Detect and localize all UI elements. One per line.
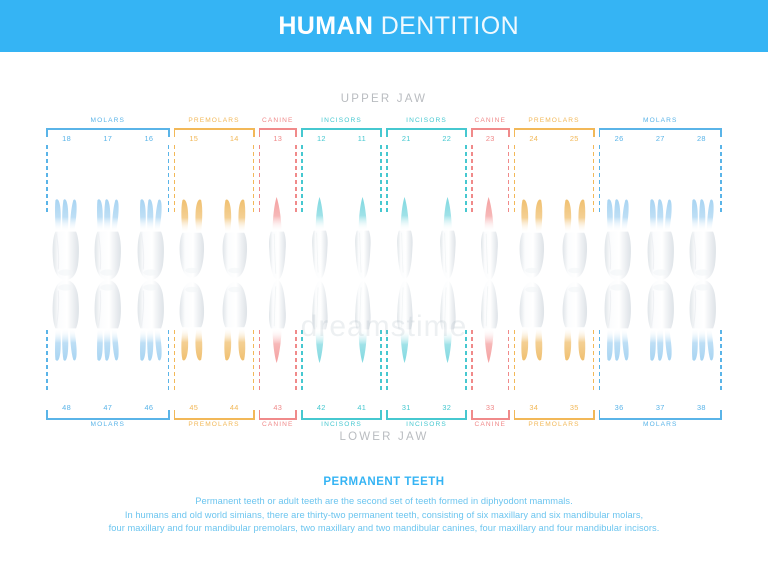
- tooth-molar[interactable]: [639, 196, 682, 282]
- tooth-number: 11: [358, 134, 366, 143]
- tooth-molar[interactable]: [597, 278, 640, 364]
- tooth-group-bracket-canine-lower: CANINE43: [259, 398, 298, 420]
- bracket-bar: [386, 418, 467, 420]
- tooth-incisor[interactable]: [342, 196, 385, 282]
- tooth-number-row: 484746: [46, 403, 170, 412]
- tooth-molar[interactable]: [682, 278, 725, 364]
- tooth-group-label: MOLARS: [46, 421, 170, 428]
- tooth-number: 41: [357, 403, 366, 412]
- tooth-number-row: 363738: [599, 403, 723, 412]
- tooth-molar[interactable]: [44, 196, 87, 282]
- tooth-number-row: 2122: [386, 134, 467, 143]
- tooth-incisor[interactable]: [384, 278, 427, 364]
- tooth-group-label: CANINE: [259, 421, 298, 428]
- tooth-number: 28: [697, 134, 706, 143]
- bracket-bar: [471, 418, 510, 420]
- tooth-number: 47: [103, 403, 112, 412]
- tooth-premolar[interactable]: [214, 278, 257, 364]
- tooth-group-label: INCISORS: [386, 117, 467, 124]
- tooth-molar[interactable]: [129, 278, 172, 364]
- tooth-number-row: 2425: [514, 134, 595, 143]
- tooth-number: 37: [656, 403, 665, 412]
- tooth-number-row: 4241: [301, 403, 382, 412]
- tooth-group-label: INCISORS: [301, 117, 382, 124]
- bracket-bar: [599, 128, 723, 130]
- tooth-group-label: PREMOLARS: [514, 421, 595, 428]
- tooth-canine[interactable]: [469, 196, 512, 282]
- tooth-number: 14: [230, 134, 239, 143]
- tooth-number-row: 1514: [174, 134, 255, 143]
- tooth-group-label: MOLARS: [599, 117, 723, 124]
- tooth-incisor[interactable]: [342, 278, 385, 364]
- tooth-number: 22: [442, 134, 451, 143]
- tooth-group-label: INCISORS: [301, 421, 382, 428]
- tooth-molar[interactable]: [87, 278, 130, 364]
- tooth-incisor[interactable]: [384, 196, 427, 282]
- tooth-number: 31: [402, 403, 411, 412]
- tooth-group-bracket-molars-lower: MOLARS363738: [599, 398, 723, 420]
- tooth-molar[interactable]: [682, 196, 725, 282]
- tooth-premolar[interactable]: [512, 196, 555, 282]
- bracket-bar: [259, 418, 298, 420]
- tooth-group-bracket-canine-upper: CANINE13: [259, 128, 298, 150]
- tooth-incisor[interactable]: [427, 196, 470, 282]
- upper-teeth-row: [44, 196, 724, 282]
- tooth-number: 33: [486, 403, 495, 412]
- tooth-number: 46: [144, 403, 153, 412]
- footer-line-3: four maxillary and four mandibular premo…: [0, 522, 768, 536]
- tooth-number-row: 4544: [174, 403, 255, 412]
- tooth-number: 18: [62, 134, 71, 143]
- tooth-group-bracket-incisors-upper: INCISORS2122: [386, 128, 467, 150]
- tooth-group-bracket-molars-upper: MOLARS181716: [46, 128, 170, 150]
- tooth-premolar[interactable]: [554, 196, 597, 282]
- bracket-bar: [301, 418, 382, 420]
- tooth-number-row: 181716: [46, 134, 170, 143]
- tooth-number-row: 3132: [386, 403, 467, 412]
- tooth-number: 43: [273, 403, 282, 412]
- tooth-number: 34: [529, 403, 538, 412]
- tooth-number: 35: [570, 403, 579, 412]
- tooth-group-label: CANINE: [259, 117, 298, 124]
- tooth-number: 13: [273, 134, 282, 143]
- tooth-group-bracket-incisors-upper: INCISORS1211: [301, 128, 382, 150]
- tooth-group-label: PREMOLARS: [174, 117, 255, 124]
- tooth-molar[interactable]: [44, 278, 87, 364]
- bracket-bar: [514, 128, 595, 130]
- tooth-premolar[interactable]: [512, 278, 555, 364]
- tooth-number: 48: [62, 403, 71, 412]
- tooth-group-label: MOLARS: [46, 117, 170, 124]
- lower-teeth-row: [44, 278, 724, 364]
- footer-description: Permanent teeth or adult teeth are the s…: [0, 495, 768, 536]
- tooth-number-row: 33: [471, 403, 510, 412]
- tooth-number: 16: [144, 134, 153, 143]
- tooth-canine[interactable]: [257, 278, 300, 364]
- tooth-number: 32: [442, 403, 451, 412]
- tooth-number-row: 3435: [514, 403, 595, 412]
- tooth-premolar[interactable]: [554, 278, 597, 364]
- tooth-molar[interactable]: [129, 196, 172, 282]
- tooth-group-label: CANINE: [471, 421, 510, 428]
- tooth-group-bracket-canine-lower: CANINE33: [471, 398, 510, 420]
- tooth-incisor[interactable]: [299, 278, 342, 364]
- bracket-bar: [259, 128, 298, 130]
- tooth-canine[interactable]: [469, 278, 512, 364]
- tooth-group-label: PREMOLARS: [174, 421, 255, 428]
- tooth-number-row: 1211: [301, 134, 382, 143]
- tooth-number: 23: [486, 134, 495, 143]
- bracket-bar: [386, 128, 467, 130]
- tooth-number: 42: [317, 403, 326, 412]
- tooth-number: 45: [189, 403, 198, 412]
- bracket-bar: [46, 128, 170, 130]
- bracket-bar: [46, 418, 170, 420]
- tooth-group-bracket-molars-upper: MOLARS262728: [599, 128, 723, 150]
- tooth-number: 36: [615, 403, 624, 412]
- tooth-group-label: INCISORS: [386, 421, 467, 428]
- bracket-bar: [174, 128, 255, 130]
- tooth-group-label: PREMOLARS: [514, 117, 595, 124]
- tooth-group-bracket-premolars-upper: PREMOLARS1514: [174, 128, 255, 150]
- tooth-group-bracket-premolars-lower: PREMOLARS4544: [174, 398, 255, 420]
- footer-line-2: In humans and old world simians, there a…: [0, 509, 768, 523]
- tooth-number: 27: [656, 134, 665, 143]
- tooth-incisor[interactable]: [427, 278, 470, 364]
- bracket-bar: [514, 418, 595, 420]
- tooth-number: 17: [103, 134, 112, 143]
- tooth-number-row: 23: [471, 134, 510, 143]
- bracket-bar: [301, 128, 382, 130]
- tooth-molar[interactable]: [87, 196, 130, 282]
- tooth-number-row: 13: [259, 134, 298, 143]
- tooth-group-label: MOLARS: [599, 421, 723, 428]
- tooth-number-row: 43: [259, 403, 298, 412]
- tooth-group-label: CANINE: [471, 117, 510, 124]
- bracket-bar: [471, 128, 510, 130]
- tooth-number: 44: [230, 403, 239, 412]
- tooth-molar[interactable]: [639, 278, 682, 364]
- tooth-premolar[interactable]: [172, 196, 215, 282]
- tooth-number: 24: [529, 134, 538, 143]
- tooth-molar[interactable]: [597, 196, 640, 282]
- tooth-number-row: 262728: [599, 134, 723, 143]
- footer-line-1: Permanent teeth or adult teeth are the s…: [0, 495, 768, 509]
- tooth-group-bracket-incisors-lower: INCISORS4241: [301, 398, 382, 420]
- bracket-bar: [599, 418, 723, 420]
- tooth-group-bracket-incisors-lower: INCISORS3132: [386, 398, 467, 420]
- tooth-number: 15: [189, 134, 198, 143]
- tooth-number: 26: [615, 134, 624, 143]
- tooth-incisor[interactable]: [299, 196, 342, 282]
- tooth-premolar[interactable]: [172, 278, 215, 364]
- tooth-group-bracket-premolars-lower: PREMOLARS3435: [514, 398, 595, 420]
- tooth-number: 12: [317, 134, 326, 143]
- tooth-number: 21: [402, 134, 411, 143]
- footer-heading: PERMANENT TEETH: [0, 476, 768, 488]
- tooth-number: 38: [697, 403, 706, 412]
- bracket-bar: [174, 418, 255, 420]
- tooth-group-bracket-premolars-upper: PREMOLARS2425: [514, 128, 595, 150]
- tooth-canine[interactable]: [257, 196, 300, 282]
- tooth-group-bracket-molars-lower: MOLARS484746: [46, 398, 170, 420]
- tooth-premolar[interactable]: [214, 196, 257, 282]
- tooth-number: 25: [570, 134, 579, 143]
- tooth-group-bracket-canine-upper: CANINE23: [471, 128, 510, 150]
